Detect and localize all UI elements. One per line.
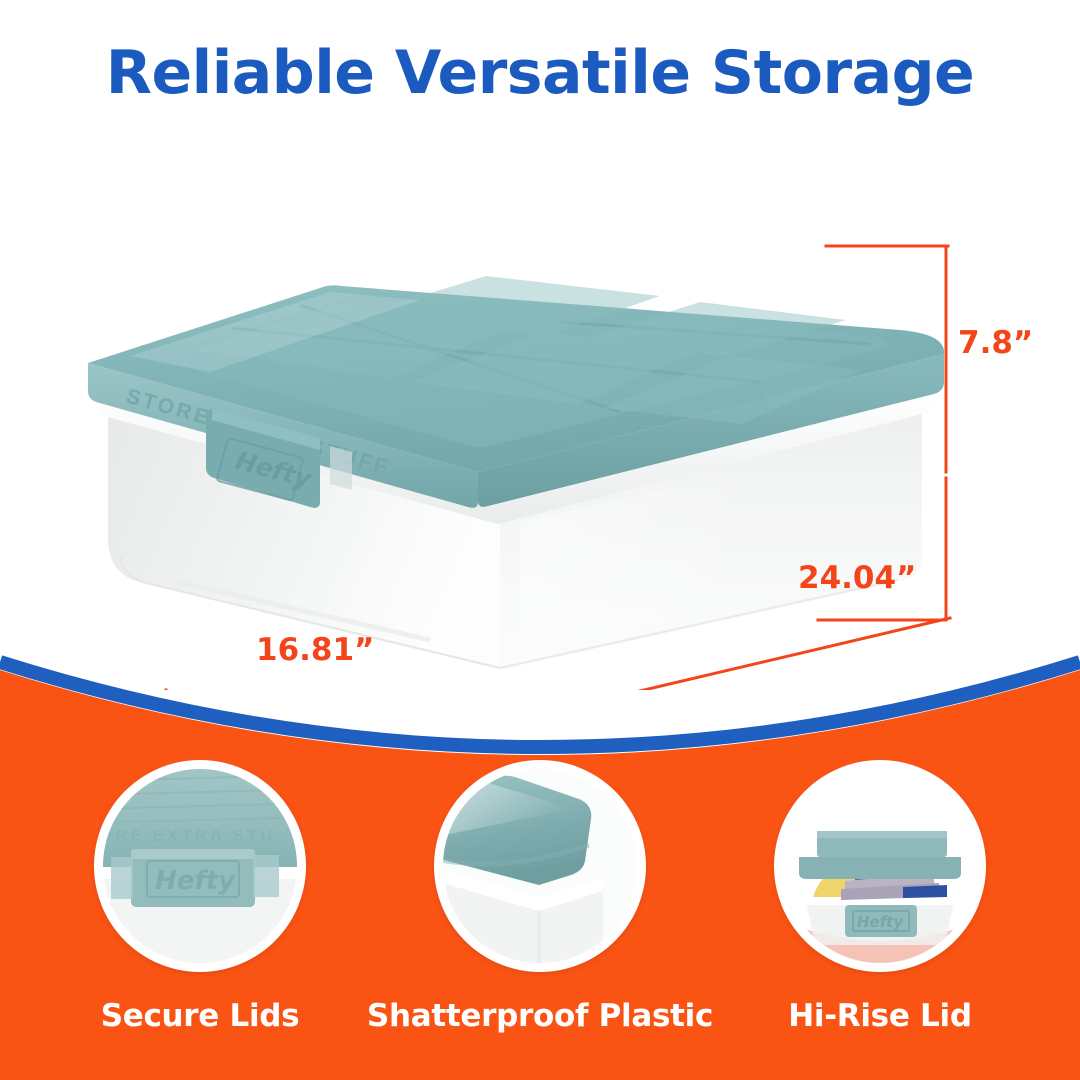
feature-label-hi-rise-lid: Hi-Rise Lid: [788, 998, 971, 1034]
thumb3-lid-skirt: [799, 857, 961, 879]
shatterproof-plastic-thumbnail: [443, 769, 637, 963]
thumb1-latch-top: [131, 849, 255, 859]
thumb3-brand-text: Hefty: [857, 913, 904, 931]
infographic-canvas: Reliable Versatile Storage: [0, 0, 1080, 1080]
secure-lids-thumbnail: ORE EXTRA STU Hefty: [103, 769, 297, 963]
product-hero-image: STORE EXTRA STUFF Hefty: [0, 150, 1080, 690]
secure-lids-artwork: ORE EXTRA STU Hefty: [103, 769, 297, 963]
thumb3-lid-top-highlight: [817, 831, 947, 838]
thumb1-brand-text: Hefty: [155, 866, 236, 896]
thumb1-emboss-text: ORE EXTRA STU: [103, 826, 275, 845]
latch-clip-right: [330, 446, 352, 490]
hi-rise-lid-artwork: Hefty: [783, 769, 977, 963]
dimension-depth-label: 24.04”: [798, 560, 916, 596]
hi-rise-lid-thumbnail: Hefty: [783, 769, 977, 963]
storage-bin-illustration: STORE EXTRA STUFF Hefty: [0, 150, 1080, 690]
page-title: Reliable Versatile Storage: [0, 38, 1080, 108]
shatterproof-artwork: [443, 769, 637, 963]
dimension-height-label: 7.8”: [958, 325, 1033, 361]
feature-label-shatterproof-plastic: Shatterproof Plastic: [367, 998, 713, 1034]
thumb1-clip-left: [111, 857, 133, 899]
top-section: Reliable Versatile Storage: [0, 0, 1080, 700]
feature-item-hi-rise-lid[interactable]: Hefty Hi-Rise Lid: [710, 760, 1050, 1080]
hi-rise-lid-thumbnail-ring[interactable]: Hefty: [774, 760, 986, 972]
feature-item-shatterproof-plastic[interactable]: Shatterproof Plastic: [370, 760, 710, 1080]
feature-item-secure-lids[interactable]: ORE EXTRA STU Hefty Secur: [30, 760, 370, 1080]
feature-label-secure-lids: Secure Lids: [101, 998, 300, 1034]
shatterproof-plastic-thumbnail-ring[interactable]: [434, 760, 646, 972]
feature-list: ORE EXTRA STU Hefty Secur: [0, 760, 1080, 1080]
thumb1-clip-right: [253, 855, 279, 897]
secure-lids-thumbnail-ring[interactable]: ORE EXTRA STU Hefty: [94, 760, 306, 972]
